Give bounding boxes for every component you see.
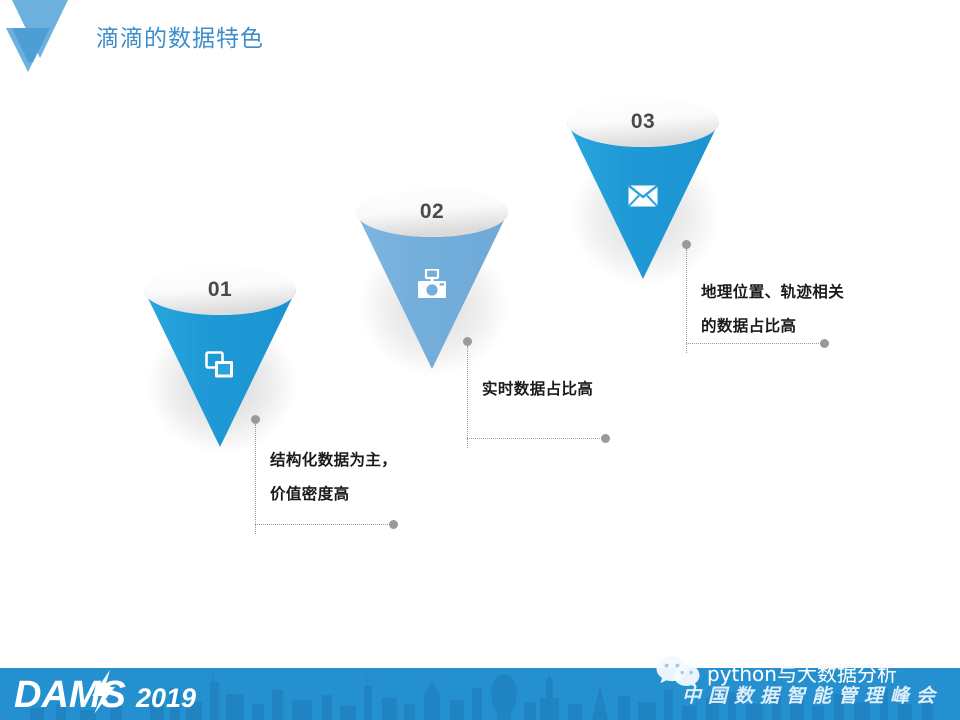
connector-dot-start [251, 415, 260, 424]
connector-dot-start [682, 240, 691, 249]
cone-group-03: 03 地理位置、轨迹相关 的数据占比高 [563, 97, 903, 377]
slide-canvas: 滴滴的数据特色 [0, 0, 960, 720]
connector-vertical-line [467, 346, 468, 448]
summit-title: 中国数据智能管理峰会 [682, 681, 942, 708]
connector-horizontal-line [255, 524, 392, 525]
page-title: 滴滴的数据特色 [96, 24, 264, 54]
connector-vertical-line [686, 249, 687, 353]
double-triangle-logo-icon [6, 0, 80, 72]
caption-03-line-1: 地理位置、轨迹相关 [701, 275, 844, 309]
caption-01-line-2: 价值密度高 [270, 477, 350, 511]
connector-horizontal-line [686, 343, 823, 344]
dams-logo-year: 2019 [135, 683, 196, 713]
connector-horizontal-line [467, 438, 604, 439]
caption-02-line-1: 实时数据占比高 [482, 372, 593, 406]
caption-03-line-2: 的数据占比高 [701, 309, 796, 343]
connector-dot-end [601, 434, 610, 443]
connector-dot-end [389, 520, 398, 529]
connector-dot-start [463, 337, 472, 346]
slide-header: 滴滴的数据特色 [0, 0, 960, 80]
slide-footer: DAMS 2019 中国数据智能管理峰会 [0, 668, 960, 720]
dams-logo-text: DAMS [14, 674, 126, 716]
dams-logo: DAMS 2019 [14, 670, 234, 718]
connector-dot-end [820, 339, 829, 348]
connector-vertical-line [255, 424, 256, 534]
